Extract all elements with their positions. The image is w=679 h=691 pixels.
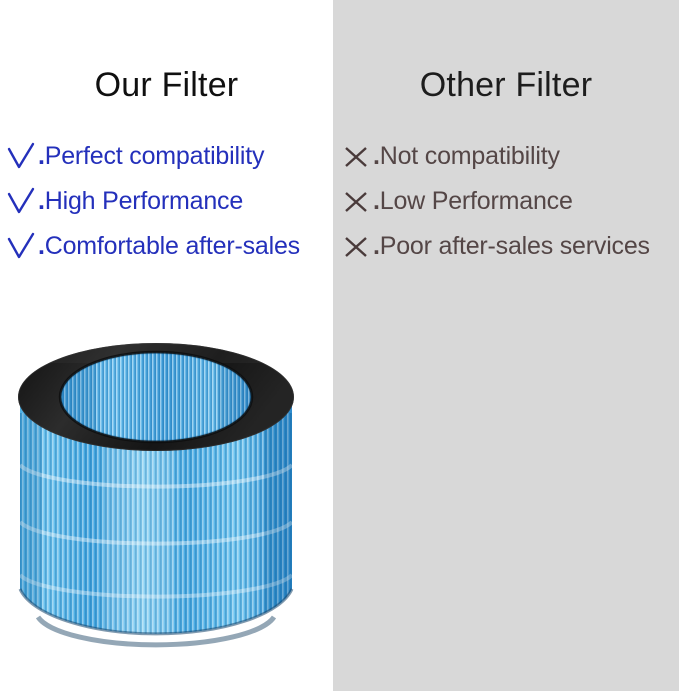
feature-text: Perfect compatibility	[45, 142, 265, 170]
our-filter-heading: Our Filter	[0, 68, 333, 102]
feature-text: High Performance	[45, 187, 243, 215]
feature-label: .Comfortable after-sales	[38, 234, 300, 259]
feature-row: .Low Performance	[333, 179, 679, 224]
feature-text: Low Performance	[380, 187, 573, 215]
feature-label: .Poor after-sales services	[373, 234, 650, 259]
bullet-dot: .	[38, 232, 45, 260]
bullet-dot: .	[373, 187, 380, 215]
bullet-dot: .	[38, 142, 45, 170]
other-filter-heading: Other Filter	[333, 68, 679, 102]
other-filter-panel: Other Filter .Not compatibility .Low Per…	[333, 0, 679, 691]
feature-text: Not compatibility	[380, 142, 560, 170]
feature-row: .Comfortable after-sales	[0, 224, 333, 269]
check-icon	[6, 142, 36, 172]
cross-icon	[341, 232, 371, 262]
cross-icon	[341, 142, 371, 172]
feature-row: .High Performance	[0, 179, 333, 224]
our-filter-panel: Our Filter .Perfect compatibility .High …	[0, 0, 333, 691]
bullet-dot: .	[38, 187, 45, 215]
other-filter-feature-list: .Not compatibility .Low Performance .Poo…	[333, 134, 679, 269]
check-icon	[6, 232, 36, 262]
our-filter-photo	[12, 317, 300, 657]
bullet-dot: .	[373, 232, 380, 260]
feature-row: .Poor after-sales services	[333, 224, 679, 269]
feature-text: Comfortable after-sales	[45, 232, 300, 260]
our-filter-feature-list: .Perfect compatibility .High Performance…	[0, 134, 333, 269]
feature-label: .Not compatibility	[373, 144, 560, 169]
cross-icon	[341, 187, 371, 217]
feature-row: .Not compatibility	[333, 134, 679, 179]
feature-label: .Perfect compatibility	[38, 144, 264, 169]
filter-comparison-graphic: Our Filter .Perfect compatibility .High …	[0, 0, 679, 691]
feature-text: Poor after-sales services	[380, 232, 650, 260]
feature-label: .Low Performance	[373, 189, 573, 214]
check-icon	[6, 187, 36, 217]
bullet-dot: .	[373, 142, 380, 170]
feature-row: .Perfect compatibility	[0, 134, 333, 179]
feature-label: .High Performance	[38, 189, 243, 214]
